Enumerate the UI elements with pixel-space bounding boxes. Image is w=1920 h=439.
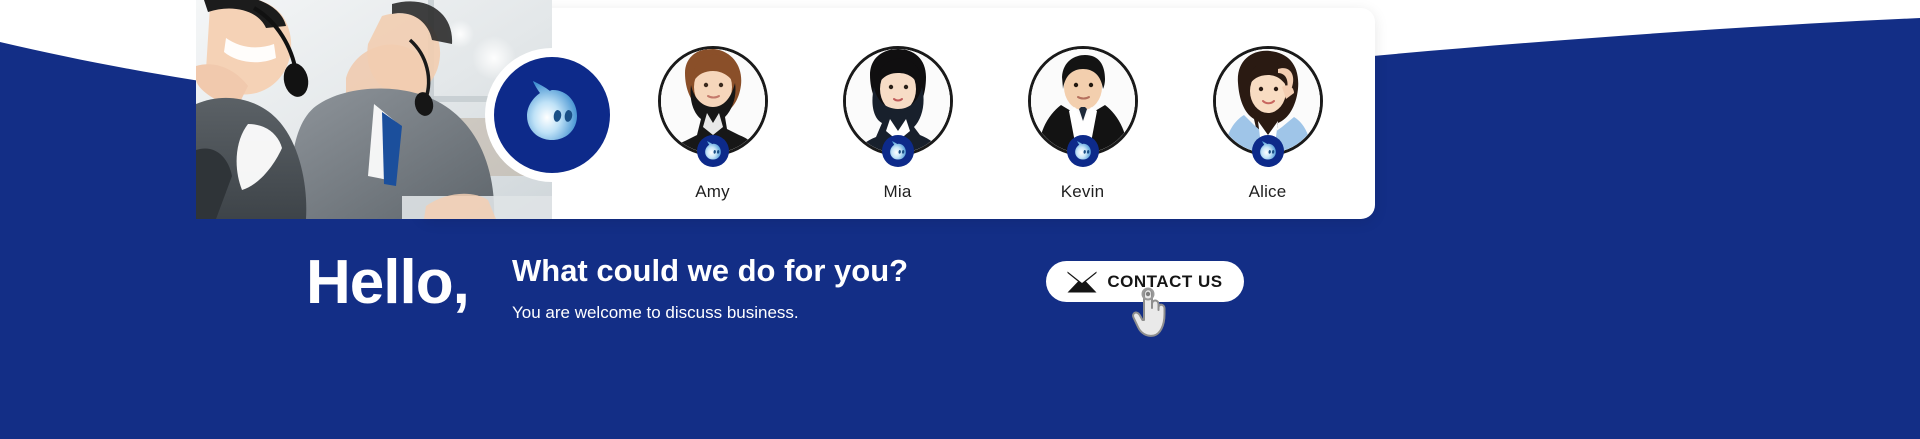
headline-text: What could we do for you? <box>512 253 908 289</box>
greeting-text: Hello, <box>306 252 469 314</box>
team-member-name: Kevin <box>1061 182 1105 202</box>
tradmanager-badge-icon <box>882 135 914 167</box>
team-member-2[interactable]: Kevin <box>1018 46 1148 202</box>
avatar-ring <box>1028 46 1138 156</box>
tradmanager-logo-bubble[interactable] <box>494 57 610 173</box>
contact-banner: Amy <box>0 0 1920 439</box>
tradmanager-droplet-icon <box>517 78 587 153</box>
avatar-ring <box>1213 46 1323 156</box>
subline-text: You are welcome to discuss business. <box>512 303 799 323</box>
team-avatar-list: Amy <box>620 46 1360 206</box>
avatar-ring <box>658 46 768 156</box>
tradmanager-badge-icon <box>697 135 729 167</box>
team-member-name: Alice <box>1249 182 1287 202</box>
contact-us-label: CONTACT US <box>1107 272 1222 292</box>
contact-us-button[interactable]: CONTACT US <box>1046 261 1244 302</box>
team-member-name: Mia <box>884 182 912 202</box>
avatar-ring <box>843 46 953 156</box>
team-member-1[interactable]: Mia <box>833 46 963 202</box>
team-member-name: Amy <box>695 182 730 202</box>
envelope-icon <box>1067 271 1097 293</box>
team-member-3[interactable]: Alice <box>1203 46 1333 202</box>
tradmanager-badge-icon <box>1252 135 1284 167</box>
team-member-0[interactable]: Amy <box>648 46 778 202</box>
tradmanager-badge-icon <box>1067 135 1099 167</box>
